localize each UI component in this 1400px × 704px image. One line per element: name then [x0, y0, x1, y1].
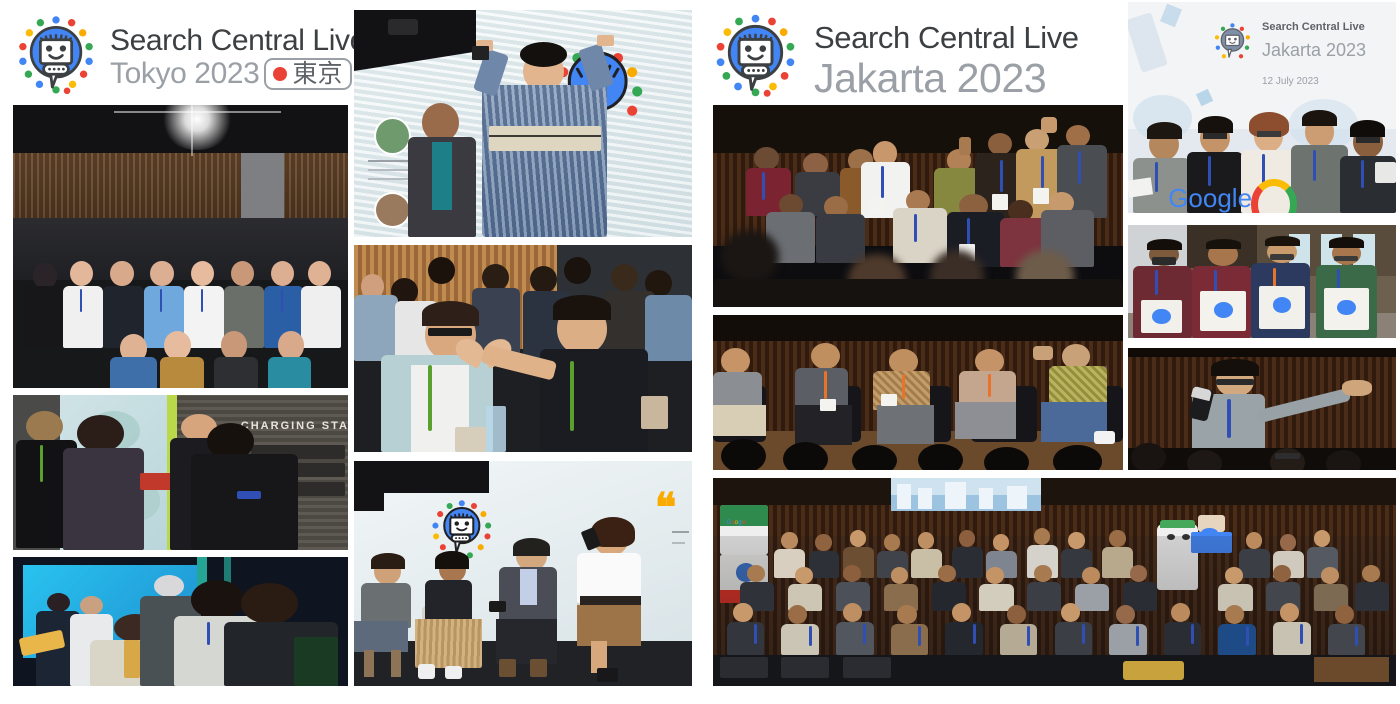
- google-wordmark-podium: Google: [727, 520, 746, 526]
- photo-tokyo-yukata-speaker: [354, 10, 692, 237]
- photo-jakarta-question-asker: [1128, 348, 1396, 470]
- photo-jakarta-group-photo: Google: [713, 478, 1396, 686]
- backdrop-line3: 12 July 2023: [1262, 76, 1319, 87]
- tokyo-logo-lockup: Search Central Live Tokyo 2023 東京: [10, 8, 366, 100]
- photo-tokyo-reception-drinks: [13, 557, 348, 686]
- jakarta-logo-line2: Jakarta 2023: [814, 56, 1079, 101]
- photo-jakarta-panel: [713, 315, 1123, 470]
- search-central-mascot-icon: [707, 6, 804, 103]
- backdrop-line2: Jakarta 2023: [1262, 40, 1366, 61]
- tokyo-city-badge: 東京: [264, 58, 352, 90]
- photo-jakarta-audience: [713, 105, 1123, 307]
- google-letter-props: Google: [1168, 183, 1252, 213]
- quote-mark-icon: ❝: [655, 488, 677, 528]
- photo-tokyo-heart-hands: [354, 245, 692, 452]
- search-central-mascot-icon: [10, 8, 102, 100]
- collage-canvas: Search Central Live Tokyo 2023 東京: [0, 0, 1400, 704]
- jakarta-logo-lockup: Search Central Live Jakarta 2023: [707, 6, 1079, 103]
- photo-tokyo-panel-stage: ❝: [354, 461, 692, 686]
- tokyo-logo-line2-row: Tokyo 2023 東京: [110, 57, 366, 91]
- tokyo-city-badge-label: 東京: [292, 61, 342, 86]
- jakarta-logo-text: Search Central Live Jakarta 2023: [814, 6, 1079, 101]
- photo-jakarta-backdrop-photobooth: Search Central Live Jakarta 2023 12 July…: [1128, 2, 1396, 213]
- tokyo-logo-text: Search Central Live Tokyo 2023 東京: [110, 8, 366, 91]
- photo-tokyo-networking: CHARGING STATION: [13, 395, 348, 550]
- jakarta-logo-line1: Search Central Live: [814, 20, 1079, 56]
- charging-station-sign: CHARGING STATION: [241, 420, 348, 432]
- backdrop-line1: Search Central Live: [1262, 21, 1365, 33]
- tokyo-logo-line2: Tokyo 2023: [110, 57, 259, 91]
- photo-tokyo-audience-group: [13, 105, 348, 388]
- tokyo-logo-line1: Search Central Live: [110, 24, 366, 57]
- japan-flag-dot-icon: [273, 67, 287, 81]
- photo-jakarta-tote-bags: [1128, 225, 1396, 338]
